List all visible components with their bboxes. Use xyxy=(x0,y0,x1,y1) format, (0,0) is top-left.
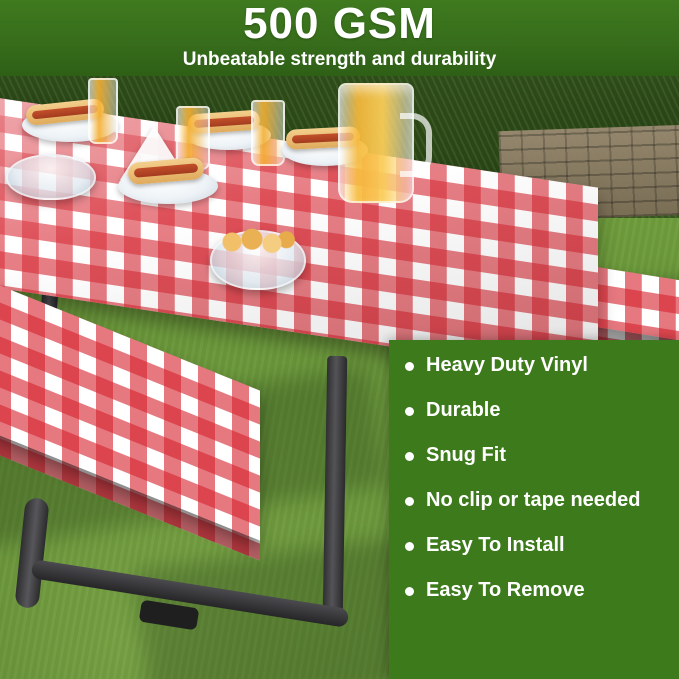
bullet-icon xyxy=(405,362,414,371)
list-item: Easy To Install xyxy=(405,534,669,557)
list-item: Easy To Remove xyxy=(405,579,669,602)
drinking-glass xyxy=(251,100,285,166)
feature-label: Heavy Duty Vinyl xyxy=(426,354,588,377)
feature-label: Snug Fit xyxy=(426,444,506,467)
list-item: Snug Fit xyxy=(405,444,669,467)
product-image: 500 GSM Unbeatable strength and durabili… xyxy=(0,0,679,679)
banner-subtitle: Unbeatable strength and durability xyxy=(0,48,679,72)
bowl xyxy=(6,154,96,200)
bullet-icon xyxy=(405,542,414,551)
feature-label: Durable xyxy=(426,399,500,422)
pitcher-of-lemonade xyxy=(338,83,414,203)
bullet-icon xyxy=(405,497,414,506)
list-item: No clip or tape needed xyxy=(405,489,669,512)
bullet-icon xyxy=(405,587,414,596)
top-banner: 500 GSM Unbeatable strength and durabili… xyxy=(0,0,679,76)
list-item: Durable xyxy=(405,399,669,422)
bullet-icon xyxy=(405,407,414,416)
feature-label: No clip or tape needed xyxy=(426,489,640,512)
list-item: Heavy Duty Vinyl xyxy=(405,354,669,377)
feature-panel: Heavy Duty Vinyl Durable Snug Fit No cli… xyxy=(389,340,679,679)
banner-title: 500 GSM xyxy=(0,0,679,50)
drinking-glass xyxy=(88,78,118,144)
bullet-icon xyxy=(405,452,414,461)
feature-list: Heavy Duty Vinyl Durable Snug Fit No cli… xyxy=(405,354,669,624)
feature-label: Easy To Remove xyxy=(426,579,585,602)
feature-label: Easy To Install xyxy=(426,534,565,557)
chips xyxy=(216,228,296,256)
